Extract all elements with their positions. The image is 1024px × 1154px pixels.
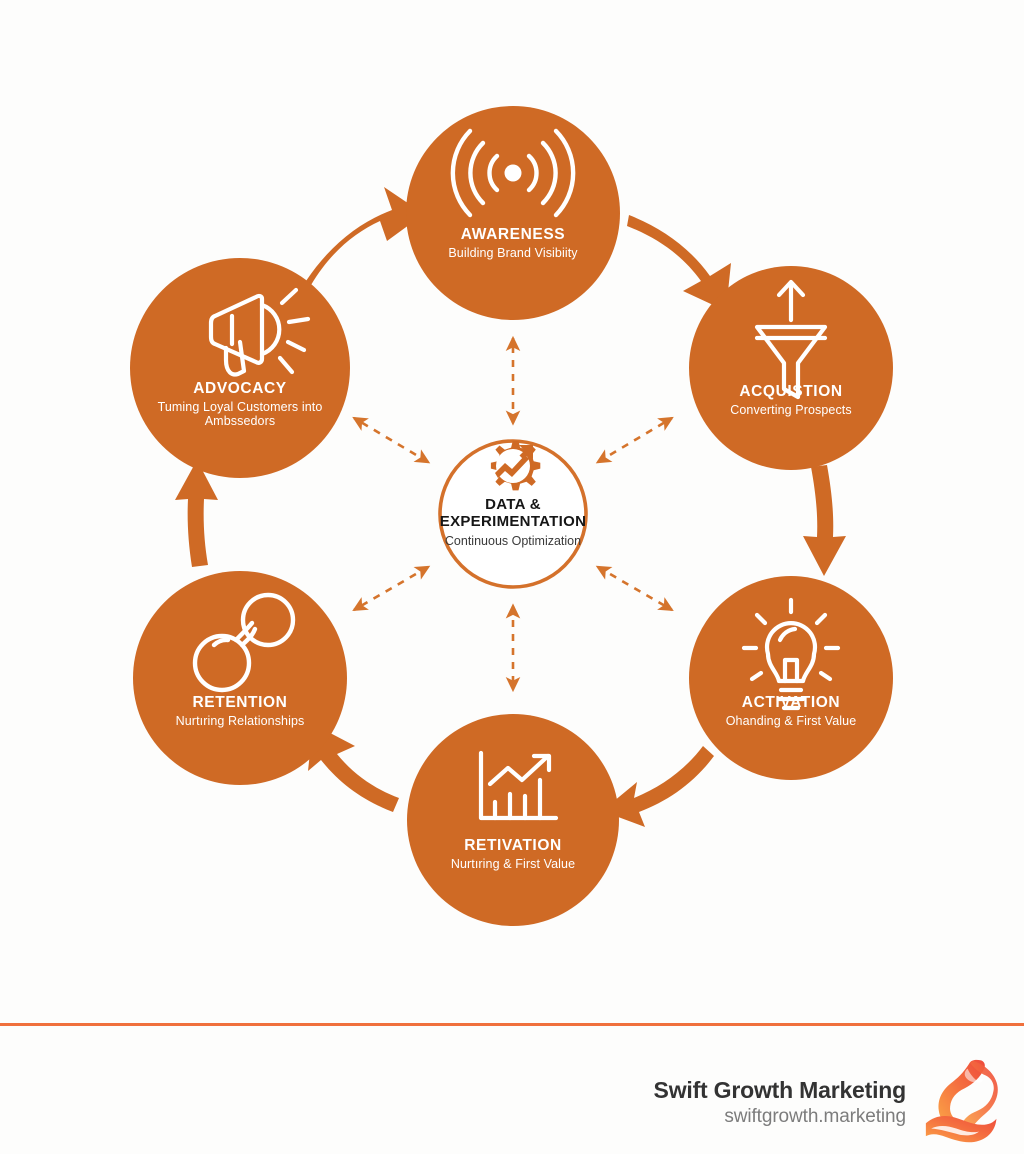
node-circle-awareness[interactable] — [406, 106, 620, 320]
spoke-hub-to-activation — [598, 567, 672, 610]
infographic-canvas: AWARENESS Building Brand Visibiity ACQUI… — [0, 0, 1024, 1154]
node-circle-advocacy[interactable] — [130, 258, 350, 478]
brand-name: Swift Growth Marketing — [654, 1076, 906, 1105]
node-circle-retention[interactable] — [133, 571, 347, 785]
spoke-hub-to-acquistion — [598, 418, 672, 462]
footer: Swift Growth Marketing swiftgrowth.marke… — [0, 1040, 1024, 1154]
arrow-retention-to-advocacy — [175, 460, 218, 567]
arrow-acquistion-to-activation — [803, 465, 846, 576]
spoke-hub-to-advocacy — [354, 418, 428, 462]
cycle-diagram — [0, 0, 1024, 1030]
arrow-advocacy-to-awareness — [306, 187, 424, 285]
fox-logo — [922, 1058, 998, 1146]
brand-url: swiftgrowth.marketing — [654, 1105, 906, 1129]
footer-text-block: Swift Growth Marketing swiftgrowth.marke… — [654, 1076, 906, 1129]
arrow-awareness-to-acquistion — [627, 215, 731, 311]
gear-growth-arrow-icon — [491, 441, 540, 490]
spoke-hub-to-retention — [354, 567, 428, 610]
footer-divider — [0, 1023, 1024, 1026]
